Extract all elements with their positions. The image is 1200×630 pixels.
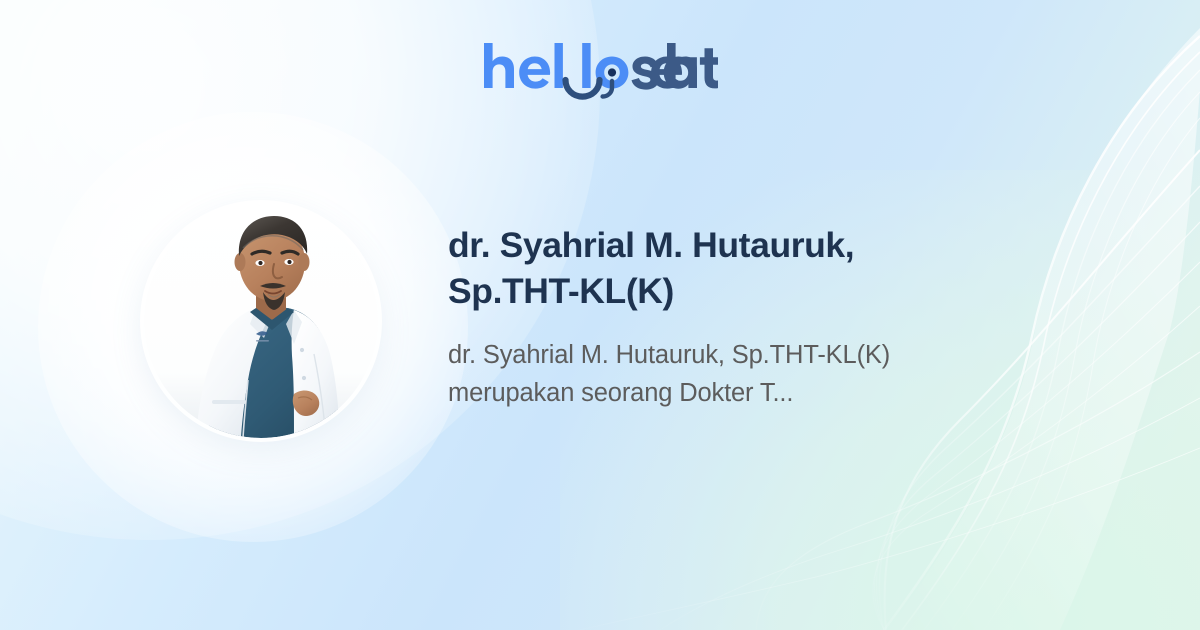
- profile-description: dr. Syahrial M. Hutauruk, Sp.THT-KL(K) m…: [448, 336, 1060, 412]
- hellosehat-logo-icon: [482, 40, 718, 102]
- profile-text-block: dr. Syahrial M. Hutauruk, Sp.THT-KL(K) d…: [448, 222, 1060, 412]
- page-title: dr. Syahrial M. Hutauruk, Sp.THT-KL(K): [448, 222, 1060, 314]
- avatar: [144, 204, 378, 438]
- og-share-card: dr. Syahrial M. Hutauruk, Sp.THT-KL(K) d…: [0, 0, 1200, 630]
- brand-logo[interactable]: [0, 40, 1200, 102]
- doctor-portrait-image: [144, 204, 378, 438]
